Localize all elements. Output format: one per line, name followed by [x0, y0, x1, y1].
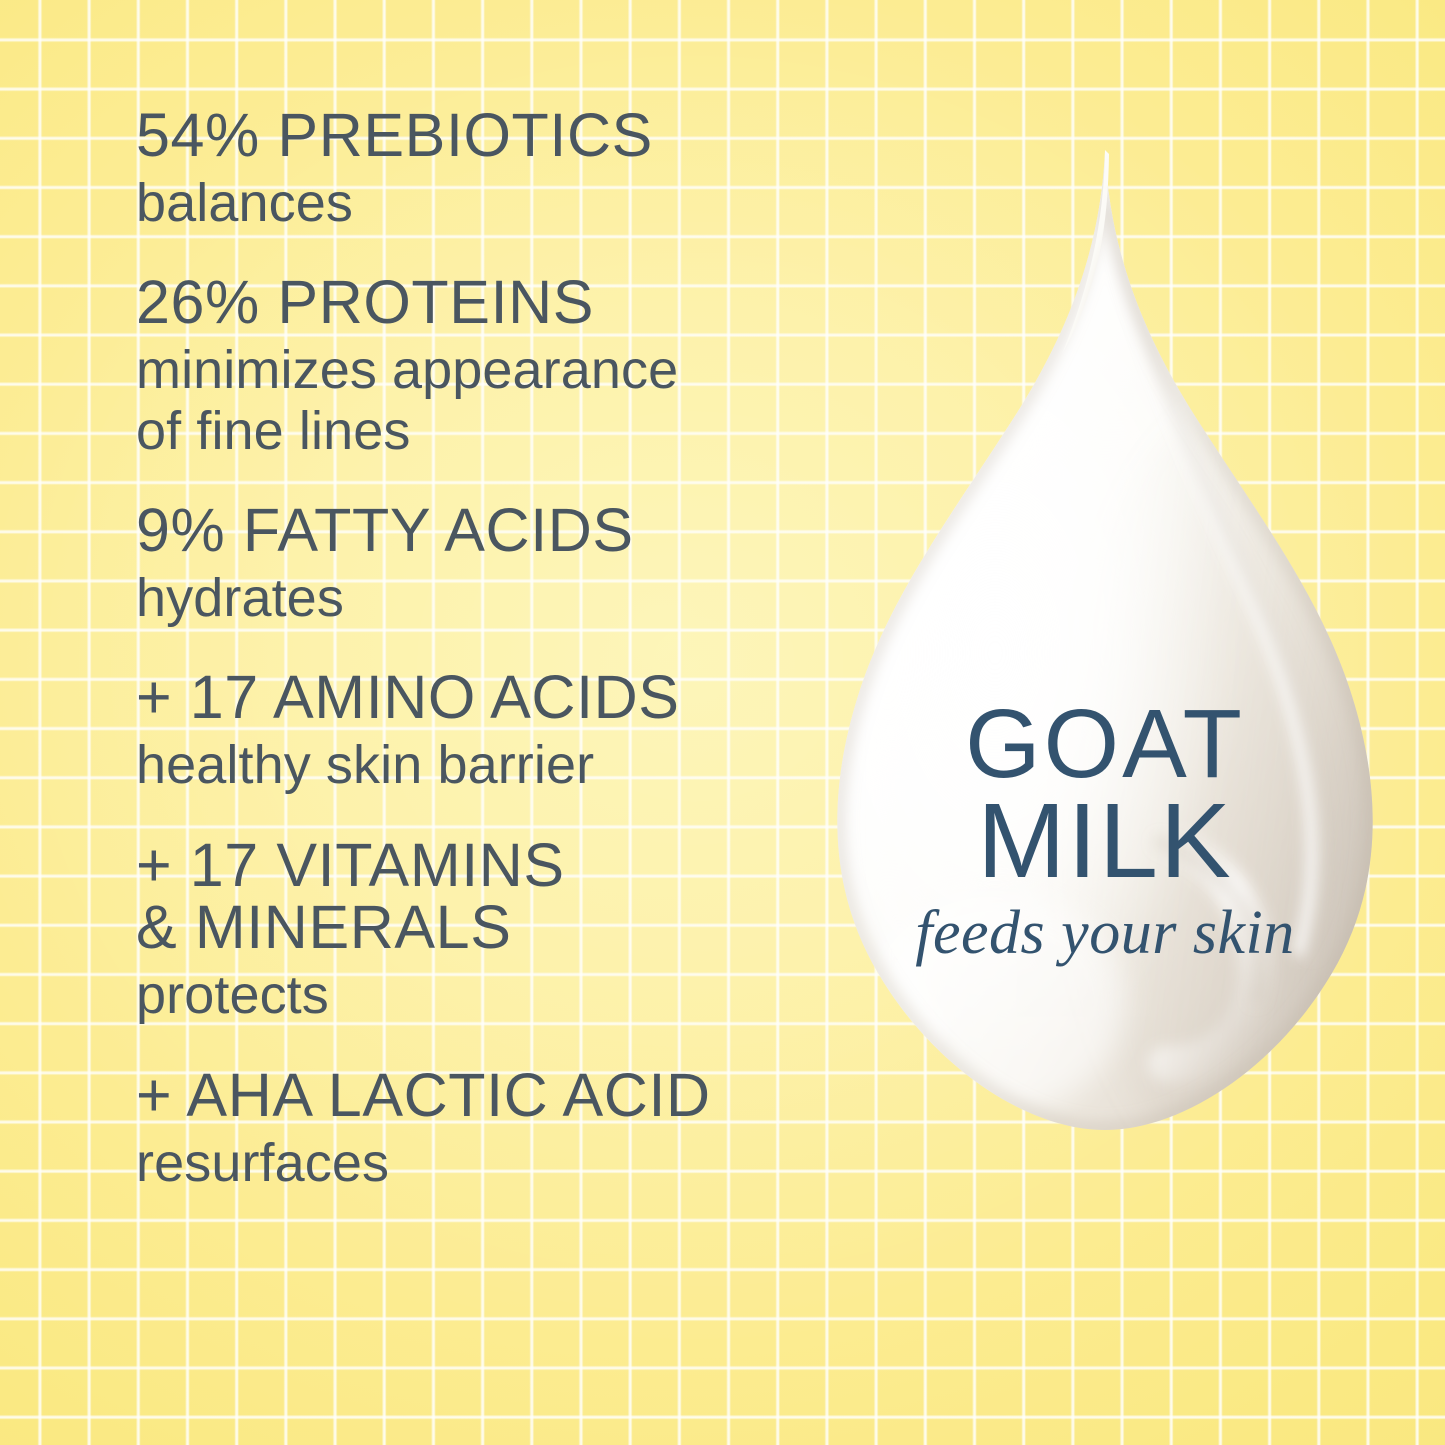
ingredient-benefit: resurfaces: [136, 1133, 836, 1193]
ingredient-benefit: minimizes appearance of fine lines: [136, 340, 836, 461]
ingredient-item-proteins: 26% PROTEINS minimizes appearance of fin…: [136, 271, 836, 461]
ingredient-headline: 9% FATTY ACIDS: [136, 499, 836, 562]
ingredient-headline: 26% PROTEINS: [136, 271, 836, 334]
ingredient-benefit: protects: [136, 965, 836, 1025]
droplet-brand-line-1: GOAT: [800, 695, 1410, 792]
ingredient-benefit: healthy skin barrier: [136, 735, 836, 795]
milk-droplet: GOAT MILK feeds your skin: [800, 130, 1410, 1170]
ingredient-headline: + AHA LACTIC ACID: [136, 1064, 836, 1127]
ingredient-item-aha-lactic-acid: + AHA LACTIC ACID resurfaces: [136, 1064, 836, 1193]
ingredient-benefit: hydrates: [136, 568, 836, 628]
droplet-brand-line-2: MILK: [800, 788, 1410, 894]
droplet-tagline: feeds your skin: [800, 902, 1410, 964]
ingredient-headline: + 17 VITAMINS & MINERALS: [136, 834, 836, 960]
ingredient-item-amino-acids: + 17 AMINO ACIDS healthy skin barrier: [136, 666, 836, 795]
ingredient-item-vitamins-minerals: + 17 VITAMINS & MINERALS protects: [136, 834, 836, 1026]
ingredient-benefit: balances: [136, 173, 836, 233]
infographic-canvas: 54% PREBIOTICS balances 26% PROTEINS min…: [0, 0, 1445, 1445]
milk-droplet-icon: [800, 130, 1410, 1170]
ingredient-item-fatty-acids: 9% FATTY ACIDS hydrates: [136, 499, 836, 628]
ingredient-item-prebiotics: 54% PREBIOTICS balances: [136, 104, 836, 233]
ingredient-headline: + 17 AMINO ACIDS: [136, 666, 836, 729]
ingredient-list: 54% PREBIOTICS balances 26% PROTEINS min…: [136, 104, 836, 1193]
ingredient-headline: 54% PREBIOTICS: [136, 104, 836, 167]
